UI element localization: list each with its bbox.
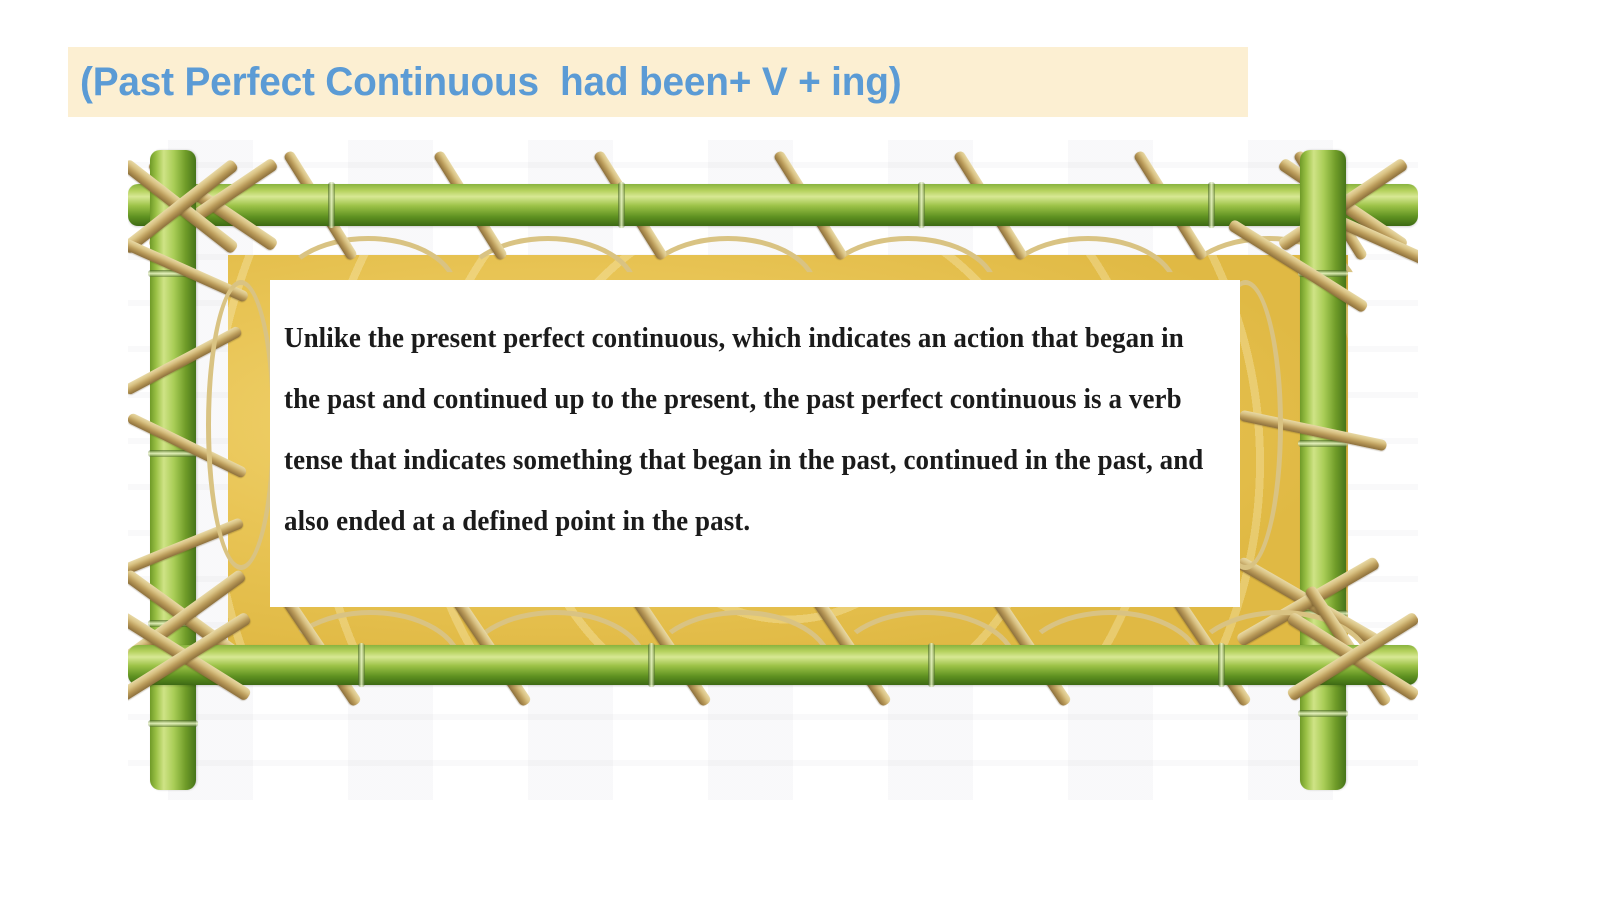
bamboo-node: [1298, 710, 1348, 717]
rope-loop-left: [206, 280, 276, 570]
bamboo-post-left: [150, 150, 196, 790]
bamboo-node: [918, 182, 925, 228]
bamboo-post-right: [1300, 150, 1346, 790]
page-title: (Past Perfect Continuous had been+ V + i…: [80, 62, 901, 102]
bamboo-node: [358, 643, 365, 687]
bamboo-node: [648, 643, 655, 687]
definition-paragraph: Unlike the present perfect continuous, w…: [284, 308, 1223, 552]
bamboo-node: [148, 720, 198, 727]
bamboo-node: [328, 182, 335, 228]
bamboo-node: [928, 643, 935, 687]
title-banner: (Past Perfect Continuous had been+ V + i…: [68, 47, 1248, 117]
bamboo-node: [618, 182, 625, 228]
bamboo-pole-top: [128, 184, 1418, 226]
definition-text-card: Unlike the present perfect continuous, w…: [270, 280, 1240, 607]
bamboo-frame-illustration: Unlike the present perfect continuous, w…: [128, 140, 1418, 800]
bamboo-pole-bottom: [128, 645, 1418, 685]
bamboo-node: [1208, 182, 1215, 228]
bamboo-node: [1218, 643, 1225, 687]
